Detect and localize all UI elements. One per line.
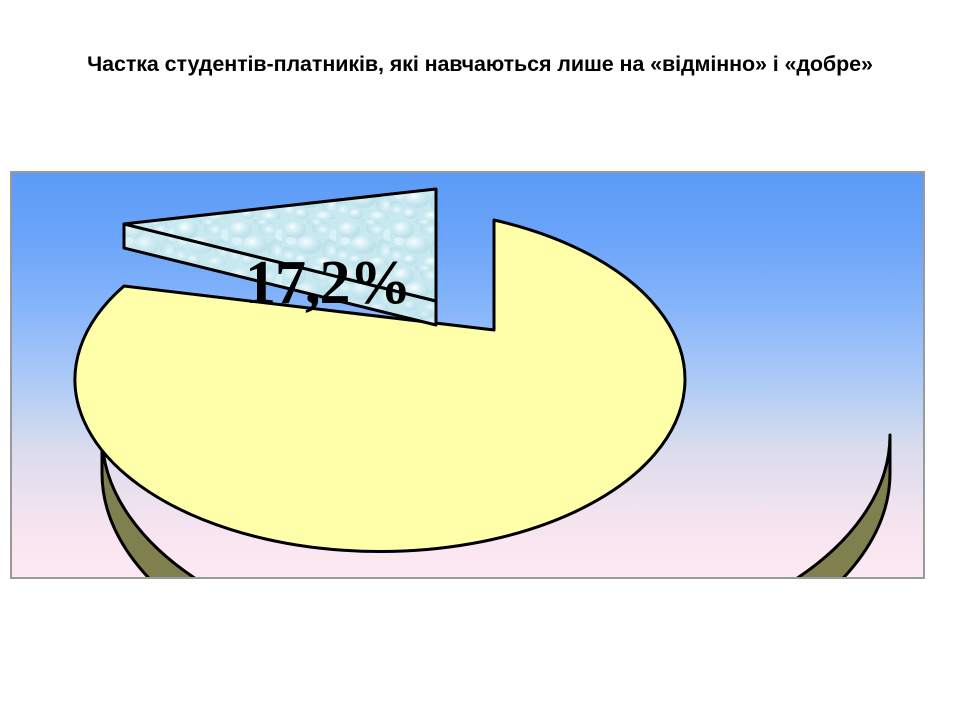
slice-data-label: 17,2%: [245, 250, 411, 316]
pie-chart-graphic: [12, 173, 923, 577]
chart-plot-area: [10, 171, 925, 579]
page-title: Частка студентів-платників, які навчають…: [0, 50, 960, 78]
